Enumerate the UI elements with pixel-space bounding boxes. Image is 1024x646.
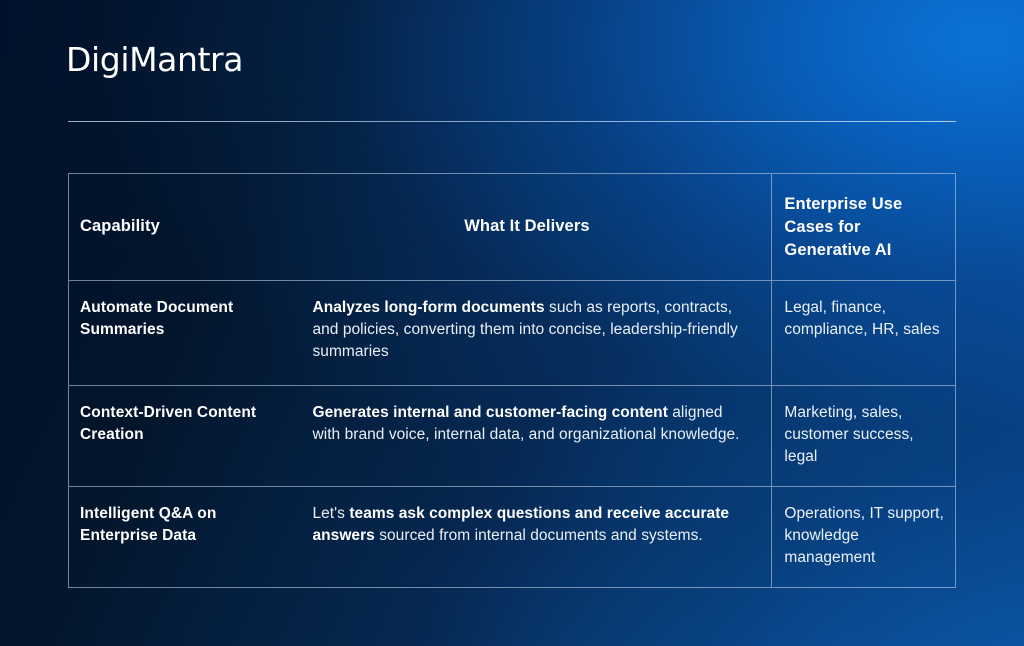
header-label-capability: Capability [80, 215, 160, 238]
header-cell-delivers: What It Delivers [310, 174, 771, 280]
delivers-remainder: sourced from internal documents and syst… [375, 527, 703, 544]
table-row: Context-Driven Content Creation Generate… [69, 385, 955, 486]
capability-label: Automate Document Summaries [80, 299, 233, 338]
header-label-delivers: What It Delivers [312, 215, 745, 238]
delivers-text: Let's teams ask complex questions and re… [312, 505, 729, 544]
capability-table: Capability What It Delivers Enterprise U… [68, 173, 956, 588]
delivers-emphasis: Analyzes long-form documents [312, 299, 544, 316]
capability-label: Context-Driven Content Creation [80, 404, 256, 443]
cell-use-cases: Operations, IT support, knowledge manage… [771, 487, 955, 587]
delivers-lead: Let's [312, 505, 349, 522]
use-cases-text: Legal, finance, compliance, HR, sales [784, 299, 939, 338]
header-cell-capability: Capability [69, 174, 310, 280]
cell-capability: Automate Document Summaries [69, 281, 310, 385]
capability-label: Intelligent Q&A on Enterprise Data [80, 505, 216, 544]
table-row: Automate Document Summaries Analyzes lon… [69, 280, 955, 385]
cell-use-cases: Marketing, sales, customer success, lega… [771, 386, 955, 486]
cell-delivers: Let's teams ask complex questions and re… [310, 487, 771, 587]
use-cases-text: Marketing, sales, customer success, lega… [784, 404, 913, 465]
header-divider [68, 121, 956, 122]
use-cases-text: Operations, IT support, knowledge manage… [784, 505, 943, 566]
delivers-text: Analyzes long-form documents such as rep… [312, 299, 737, 360]
cell-delivers: Analyzes long-form documents such as rep… [310, 281, 771, 385]
table-header-row: Capability What It Delivers Enterprise U… [69, 174, 955, 280]
delivers-emphasis: Generates internal and customer-facing c… [312, 404, 667, 421]
table-row: Intelligent Q&A on Enterprise Data Let's… [69, 486, 955, 587]
header-cell-use-cases: Enterprise Use Cases for Generative AI [771, 174, 955, 280]
cell-use-cases: Legal, finance, compliance, HR, sales [771, 281, 955, 385]
cell-delivers: Generates internal and customer-facing c… [310, 386, 771, 486]
delivers-text: Generates internal and customer-facing c… [312, 404, 739, 443]
digimantra-logo: DigiMantra [66, 41, 243, 79]
cell-capability: Context-Driven Content Creation [69, 386, 310, 486]
slide-canvas: DigiMantra Capability What It Delivers E… [0, 0, 1024, 646]
cell-capability: Intelligent Q&A on Enterprise Data [69, 487, 310, 587]
header-label-use-cases: Enterprise Use Cases for Generative AI [784, 193, 945, 262]
